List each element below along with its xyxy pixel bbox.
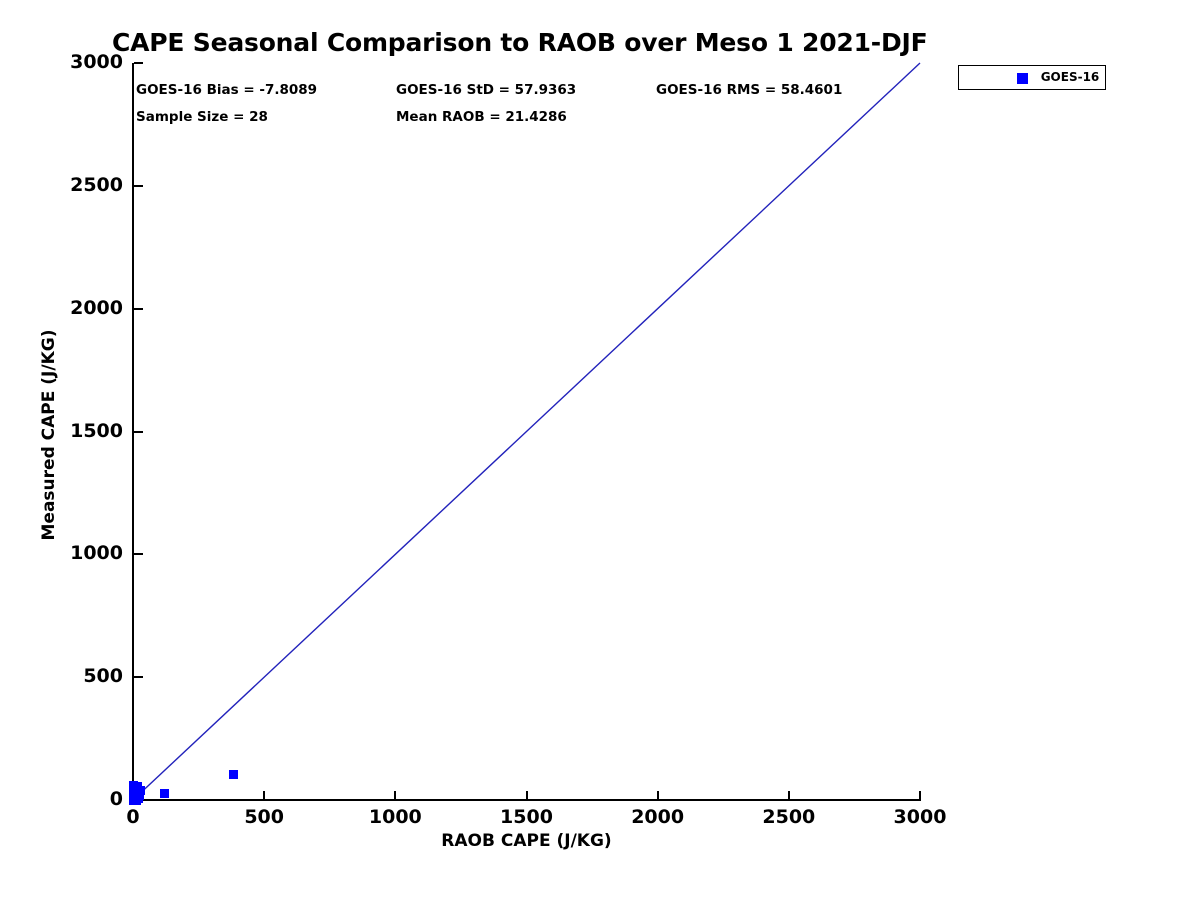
legend[interactable]: GOES-16	[958, 65, 1106, 90]
x-ticklabel-1000: 1000	[335, 806, 455, 828]
y-axis-label: Measured CAPE (J/KG)	[39, 65, 59, 805]
y-ticklabel-2500: 2500	[5, 174, 123, 196]
y-ticklabel-500: 500	[5, 665, 123, 687]
scatter-point	[133, 782, 142, 791]
legend-label-goes16: GOES-16	[1039, 70, 1101, 84]
chart-figure: CAPE Seasonal Comparison to RAOB over Me…	[0, 0, 1200, 900]
x-ticklabel-1500: 1500	[467, 806, 587, 828]
plot-area	[133, 63, 920, 800]
x-ticklabel-0: 0	[73, 806, 193, 828]
y-ticklabel-3000: 3000	[5, 51, 123, 73]
scatter-point	[160, 789, 169, 798]
x-axis-label: RAOB CAPE (J/KG)	[133, 831, 920, 851]
page-title: CAPE Seasonal Comparison to RAOB over Me…	[112, 28, 952, 57]
x-ticklabel-500: 500	[204, 806, 324, 828]
y-ticklabel-1500: 1500	[5, 420, 123, 442]
x-ticklabel-3000: 3000	[860, 806, 980, 828]
y-ticklabel-1000: 1000	[5, 542, 123, 564]
legend-swatch-goes16	[1017, 73, 1028, 84]
x-ticklabel-2500: 2500	[729, 806, 849, 828]
x-ticklabel-2000: 2000	[598, 806, 718, 828]
y-ticklabel-2000: 2000	[5, 297, 123, 319]
scatter-points-layer	[133, 63, 920, 800]
scatter-point	[229, 770, 238, 779]
